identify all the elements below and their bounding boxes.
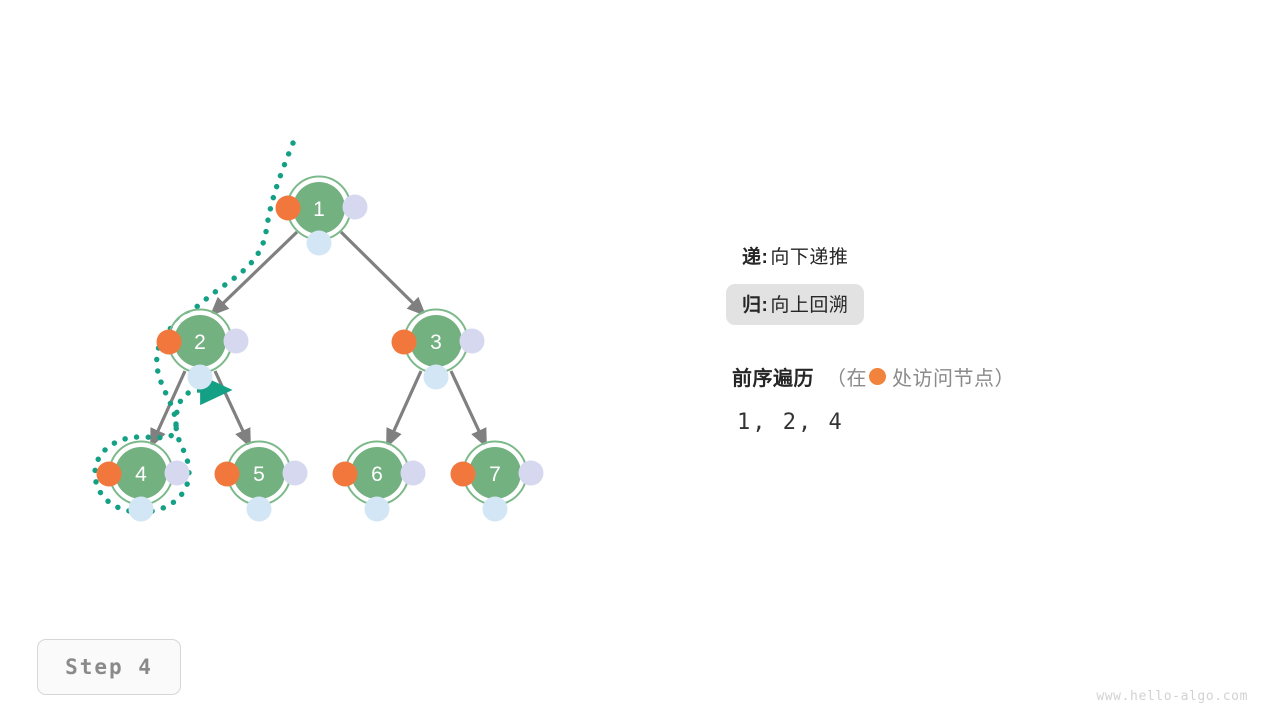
node-right-dot [519, 461, 544, 486]
node-right-dot [283, 461, 308, 486]
edge-1-2 [213, 232, 297, 313]
binary-tree-graphic: 1 2 3 [0, 0, 1280, 720]
node-visit-dot [276, 196, 301, 221]
tree-node-4[interactable]: 4 [97, 442, 190, 522]
node-bottom-dot [129, 497, 154, 522]
legend-chip-recurse: 递: 向下递推 [726, 236, 864, 277]
node-right-dot [401, 461, 426, 486]
node-bottom-dot [483, 497, 508, 522]
traversal-paren-right: ） [995, 362, 1016, 391]
node-label: 7 [489, 463, 501, 486]
node-visit-dot [157, 330, 182, 355]
legend-value-return: 向上回溯 [770, 290, 848, 317]
node-label: 5 [253, 463, 265, 486]
tree-node-3[interactable]: 3 [392, 310, 485, 390]
node-bottom-dot [188, 365, 213, 390]
node-label: 2 [194, 331, 206, 354]
edge-2-4 [152, 371, 185, 444]
legend-row-recurse: 递: 向下递推 [726, 236, 1246, 276]
diagram-canvas: 1 2 3 [0, 0, 1280, 720]
traversal-result: 1, 2, 4 [737, 410, 844, 435]
node-bottom-dot [247, 497, 272, 522]
traversal-order-block: 前序遍历 （在 处访问节点 ） [732, 362, 1015, 391]
traversal-title-line: 前序遍历 （在 处访问节点 ） [732, 362, 1015, 391]
legend-value-recurse: 向下递推 [770, 242, 848, 269]
node-label: 4 [135, 463, 147, 486]
tree-node-2[interactable]: 2 [157, 310, 249, 390]
legend-panel: 递: 向下递推 归: 向上回溯 [726, 236, 1246, 332]
node-bottom-dot [307, 231, 332, 256]
legend-chip-return: 归: 向上回溯 [726, 284, 864, 325]
traversal-note: 处访问节点 [892, 362, 995, 391]
tree-node-7[interactable]: 7 [451, 442, 544, 522]
node-right-dot [165, 461, 190, 486]
watermark: www.hello-algo.com [1096, 689, 1248, 704]
traversal-paren-left: （在 [826, 362, 867, 391]
node-right-dot [224, 329, 249, 354]
tree-node-5[interactable]: 5 [215, 442, 308, 522]
edge-3-7 [451, 371, 485, 444]
node-label: 6 [371, 463, 383, 486]
legend-row-return: 归: 向上回溯 [726, 284, 1246, 324]
node-visit-dot [215, 462, 240, 487]
visit-marker-icon [869, 368, 886, 385]
edge-3-6 [388, 371, 421, 444]
legend-key-return: 归: [742, 290, 768, 317]
step-badge: Step 4 [37, 639, 181, 695]
node-label: 1 [313, 198, 325, 221]
tree-nodes: 1 2 3 [97, 177, 544, 522]
node-label: 3 [430, 331, 442, 354]
node-bottom-dot [365, 497, 390, 522]
node-right-dot [343, 195, 368, 220]
node-visit-dot [333, 462, 358, 487]
step-badge-label: Step 4 [65, 655, 153, 679]
edge-2-5 [215, 371, 249, 444]
edge-1-3 [341, 232, 423, 313]
node-visit-dot [392, 330, 417, 355]
node-right-dot [460, 329, 485, 354]
node-visit-dot [97, 462, 122, 487]
tree-node-6[interactable]: 6 [333, 442, 426, 522]
node-bottom-dot [424, 365, 449, 390]
legend-key-recurse: 递: [742, 242, 768, 269]
traversal-title: 前序遍历 [732, 362, 814, 391]
node-visit-dot [451, 462, 476, 487]
